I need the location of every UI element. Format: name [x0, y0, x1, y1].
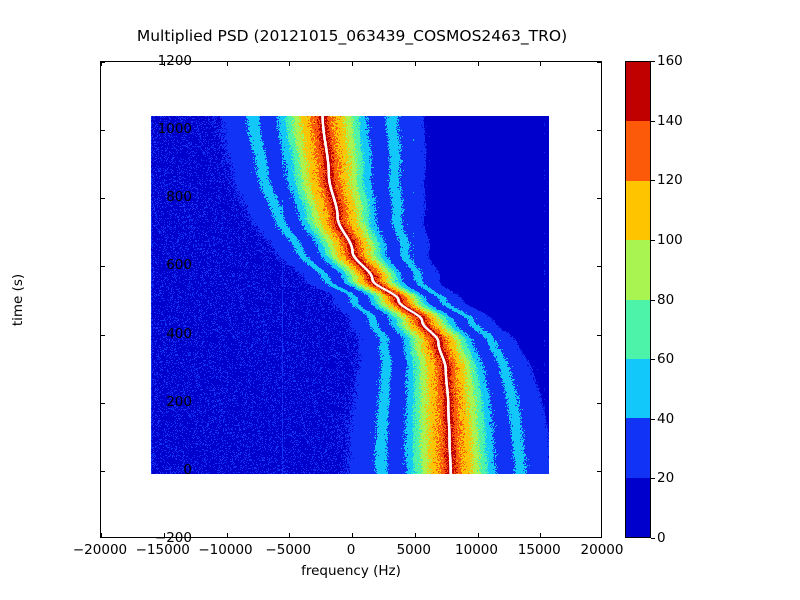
x-tick-label: −10000: [198, 542, 252, 558]
x-tick: [415, 533, 416, 537]
colorbar-tick-label: 60: [657, 351, 674, 367]
colorbar-tick-label: 100: [657, 232, 683, 248]
y-tick: [597, 198, 601, 199]
x-tick: [478, 533, 479, 537]
y-tick: [101, 130, 105, 131]
chart-title: Multiplied PSD (20121015_063439_COSMOS24…: [0, 27, 704, 45]
colorbar-band: [626, 181, 650, 240]
colorbar-tick: [651, 121, 655, 122]
colorbar-band: [626, 300, 650, 359]
x-tick-label: 20000: [581, 542, 624, 558]
y-axis-title: time (s): [10, 274, 26, 326]
x-tick-label: 15000: [518, 542, 561, 558]
x-tick: [352, 62, 353, 66]
y-tick-label: 400: [166, 326, 192, 342]
x-tick-label: 0: [347, 542, 356, 558]
y-tick-label: 800: [166, 189, 192, 205]
colorbar-band: [626, 478, 650, 537]
colorbar-tick-label: 140: [657, 113, 683, 129]
y-tick: [101, 471, 105, 472]
colorbar-tick-label: 0: [657, 530, 666, 546]
colorbar-tick: [651, 359, 655, 360]
x-tick-label: −20000: [73, 542, 127, 558]
x-tick: [227, 62, 228, 66]
y-tick-label: 200: [166, 394, 192, 410]
figure-canvas: Multiplied PSD (20121015_063439_COSMOS24…: [0, 0, 800, 600]
colorbar-tick: [651, 419, 655, 420]
x-axis-title: frequency (Hz): [100, 563, 602, 579]
y-tick: [597, 471, 601, 472]
colorbar-band: [626, 62, 650, 121]
x-tick: [289, 62, 290, 66]
x-tick: [352, 533, 353, 537]
colorbar-tick: [651, 61, 655, 62]
y-tick-label: 0: [183, 462, 192, 478]
y-tick-label: 1200: [158, 53, 192, 69]
y-tick: [101, 335, 105, 336]
colorbar-tick: [651, 478, 655, 479]
x-tick: [227, 533, 228, 537]
colorbar: [625, 61, 651, 538]
y-tick: [101, 62, 105, 63]
y-tick: [597, 335, 601, 336]
colorbar-tick: [651, 180, 655, 181]
x-tick: [101, 533, 102, 537]
x-tick: [289, 533, 290, 537]
colorbar-band: [626, 418, 650, 477]
y-tick-label: 600: [166, 257, 192, 273]
x-tick: [540, 533, 541, 537]
y-tick: [101, 266, 105, 267]
y-tick-label: 1000: [158, 121, 192, 137]
y-tick: [597, 130, 601, 131]
x-tick: [478, 62, 479, 66]
x-tick: [540, 62, 541, 66]
colorbar-tick-label: 120: [657, 172, 683, 188]
colorbar-tick: [651, 538, 655, 539]
y-tick: [101, 198, 105, 199]
x-tick-label: −5000: [265, 542, 311, 558]
x-tick-label: 5000: [397, 542, 431, 558]
colorbar-tick: [651, 300, 655, 301]
y-tick: [597, 62, 601, 63]
colorbar-tick-label: 80: [657, 292, 674, 308]
spectrogram-image: [151, 116, 549, 474]
colorbar-tick-label: 160: [657, 53, 683, 69]
x-tick-label: 10000: [455, 542, 498, 558]
y-tick-label: −200: [155, 530, 192, 546]
colorbar-band: [626, 240, 650, 299]
colorbar-tick-label: 20: [657, 470, 674, 486]
colorbar-tick-label: 40: [657, 411, 674, 427]
colorbar-tick: [651, 240, 655, 241]
y-tick: [597, 403, 601, 404]
x-tick: [415, 62, 416, 66]
colorbar-band: [626, 121, 650, 180]
colorbar-band: [626, 359, 650, 418]
y-tick: [597, 266, 601, 267]
y-tick: [101, 403, 105, 404]
